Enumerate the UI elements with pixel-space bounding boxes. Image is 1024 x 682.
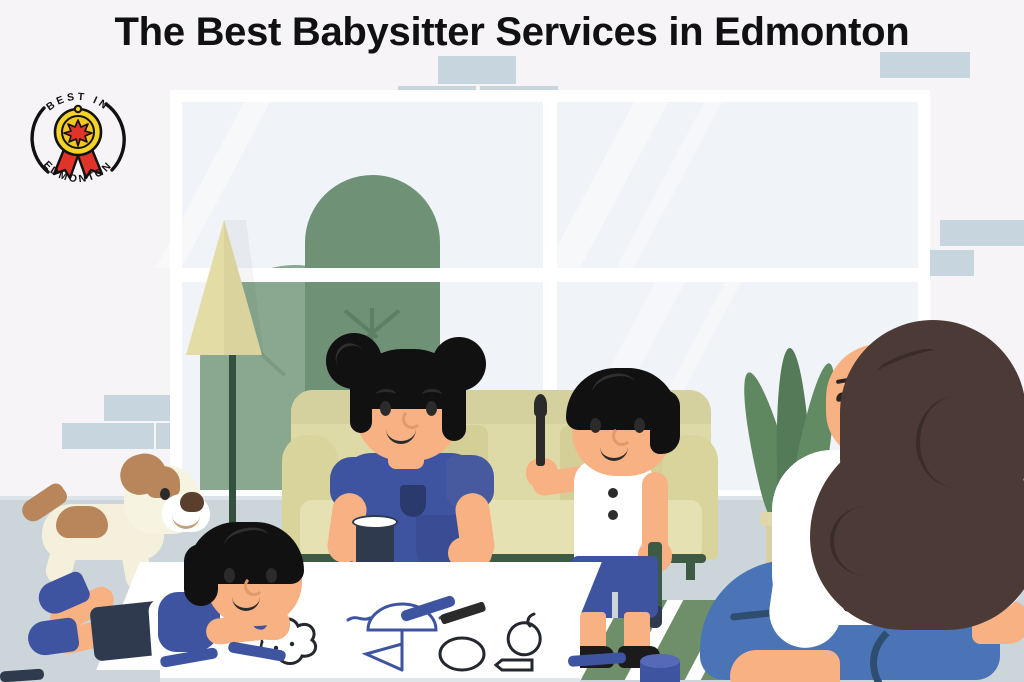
- dog-nose: [180, 492, 204, 512]
- girl-hair-bun-right: [432, 337, 486, 391]
- boy2-shoe: [26, 617, 80, 658]
- girl-dress-pocket: [400, 485, 426, 517]
- babysitter-hair-highlight: [916, 396, 998, 488]
- boy-tank-button: [608, 488, 618, 498]
- boy2-eye: [224, 568, 235, 583]
- dog-eye: [160, 488, 170, 500]
- best-in-edmonton-badge: BEST IN EDMONTON: [20, 80, 136, 196]
- boy-eye: [634, 418, 645, 433]
- window-mullion: [182, 268, 918, 282]
- brick-tile: [940, 220, 1024, 246]
- boy2-hair-side: [184, 544, 218, 606]
- brick-tile: [62, 423, 154, 449]
- babysitter-hair-highlight: [830, 506, 904, 576]
- boy-shorts-split: [612, 592, 618, 618]
- boy-tank-button: [608, 510, 618, 520]
- badge-bottom-text: EDMONTON: [41, 159, 115, 185]
- girl-eyebrow: [376, 389, 396, 400]
- boy-eye: [590, 418, 601, 433]
- girl-eye: [380, 401, 391, 416]
- brick-tile: [438, 56, 516, 84]
- page-title: The Best Babysitter Services in Edmonton: [0, 10, 1024, 55]
- boy-hair-side: [650, 390, 680, 454]
- girl-eyebrow: [422, 389, 442, 400]
- babysitter: [700, 310, 1024, 682]
- babysitter-foot: [730, 650, 840, 682]
- paint-cup-rim: [352, 515, 398, 529]
- illustration-page: The Best Babysitter Services in Edmonton: [0, 0, 1024, 682]
- badge-svg: BEST IN EDMONTON: [20, 80, 136, 196]
- boy2-eye: [266, 568, 277, 583]
- brick-tile: [880, 52, 970, 78]
- paint-brush-tip: [534, 394, 547, 416]
- girl-eye: [426, 401, 437, 416]
- paint-cup-floor-rim: [640, 654, 680, 668]
- scene-illustration: [0, 60, 1024, 682]
